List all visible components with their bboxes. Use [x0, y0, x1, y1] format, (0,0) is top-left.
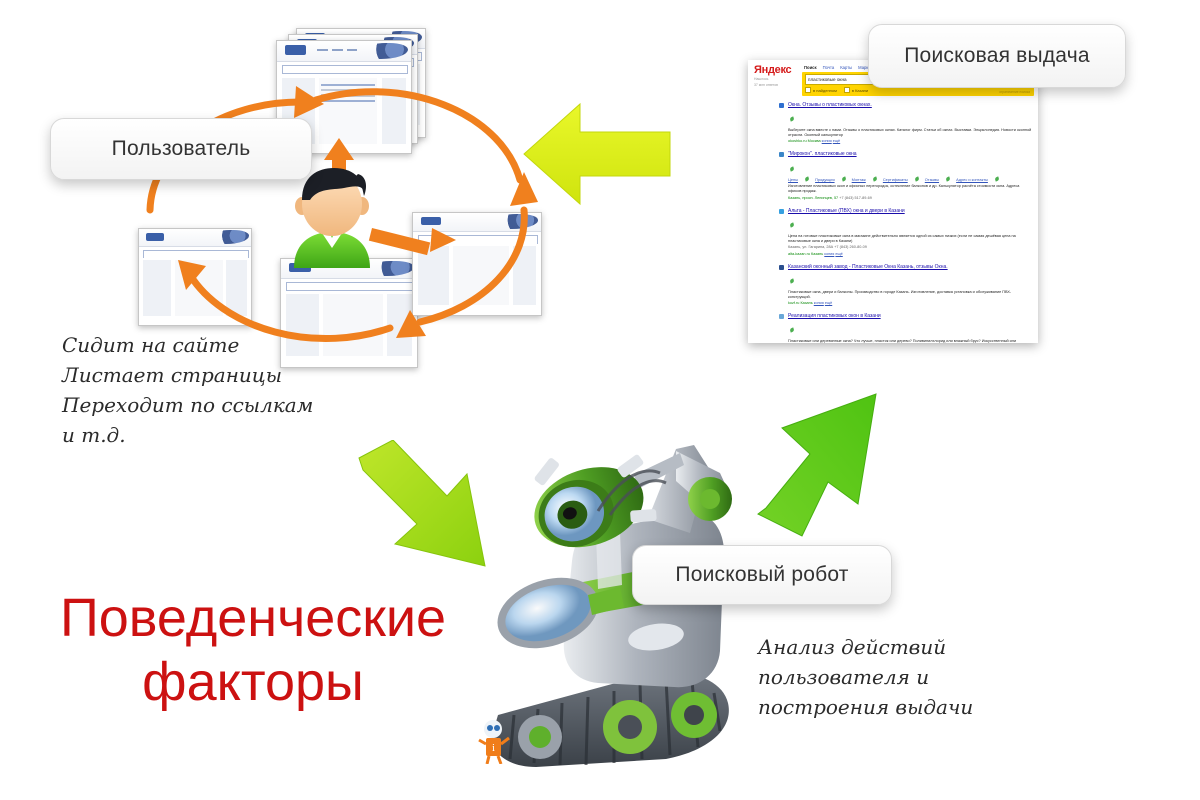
result-copy-link[interactable]: копия — [822, 139, 832, 143]
result-title[interactable]: Окна. Отзывы о пластиковых окнах. — [788, 102, 1032, 108]
checkbox-v-kazani[interactable]: в Казани — [844, 87, 868, 93]
page-title: Поведенческие факторы — [28, 586, 478, 714]
robot-behaviour-note: Анализ действий пользователя и построени… — [758, 632, 973, 722]
site-aside — [387, 294, 411, 356]
result-meta: Казань, просп. Ленинцев, 57 +7 (843) 517… — [788, 196, 1032, 201]
sublink[interactable]: Цены — [788, 177, 798, 182]
result-url[interactable]: okoshko.ru — [788, 139, 807, 143]
site-aside — [382, 78, 406, 144]
site-search-field — [282, 65, 407, 75]
result-copy-link[interactable]: копия — [814, 301, 824, 305]
site-body — [413, 244, 541, 315]
site-nav — [317, 49, 328, 51]
leaf-icon — [789, 278, 794, 283]
result-meta: kozf.ru Казань копия ещё — [788, 301, 1032, 306]
checkbox-icon[interactable] — [844, 87, 850, 93]
result-snippet: Выберите окна вместе с нами. Отзывы о пл… — [788, 128, 1032, 138]
sublink[interactable]: Сертификаты — [883, 177, 908, 182]
result-url[interactable]: kozf.ru — [788, 301, 799, 305]
result-more-link[interactable]: ещё — [833, 139, 840, 143]
serp-found-count: 37 млн ответов — [754, 83, 802, 88]
search-result-item[interactable]: Альта - Пластиковые (ПВХ) окна и двери в… — [788, 208, 1032, 257]
site-nav — [347, 49, 358, 51]
tab-poisk[interactable]: Поиск — [804, 65, 817, 70]
result-address: Казань, просп. Ленинцев, 57 — [788, 196, 838, 200]
favicon-icon — [779, 152, 784, 157]
mascot-icon: i — [478, 718, 512, 764]
callout-serp-label: Поисковая выдача — [904, 44, 1089, 68]
site-aside — [226, 260, 246, 315]
user-behaviour-note: Сидит на сайте Листает страницы Переходи… — [62, 330, 313, 450]
result-city: Казань — [811, 252, 823, 256]
yandex-serp-window[interactable]: Яндекс Нашлось 37 млн ответов Поиск Почт… — [748, 60, 1038, 343]
arrow-serp-to-user — [518, 98, 674, 210]
svg-text:i: i — [492, 742, 495, 754]
leaf-icon — [872, 177, 877, 182]
search-result-item[interactable]: Реализация пластиковых окон в Казани Пла… — [788, 313, 1032, 343]
result-address: Казань, ул. Гагарина, 28А — [788, 245, 833, 249]
result-snippet: Пластиковые или деревянные окна? Что луч… — [788, 339, 1032, 343]
leaf-icon — [789, 166, 794, 171]
tab-karty[interactable]: Карты — [840, 65, 852, 70]
infographic-canvas: i Яндекс Нашло — [0, 0, 1200, 800]
search-result-item[interactable]: Окна. Отзывы о пластиковых окнах. Выбери… — [788, 102, 1032, 144]
site-text-lines — [321, 84, 375, 105]
robot-treads — [492, 672, 729, 767]
search-result-item[interactable]: Казанский оконный завод - Пластиковые Ок… — [788, 264, 1032, 306]
callout-search-results[interactable]: Поисковая выдача — [868, 24, 1126, 88]
result-phone: +7 (843) 517-89-69 — [839, 196, 872, 200]
site-nav — [332, 49, 343, 51]
arrow-robot-to-serp — [752, 386, 884, 541]
result-title[interactable]: Реализация пластиковых окон в Казани — [788, 313, 1032, 319]
result-snippet: Пластиковые окна, двери и балконы. Произ… — [788, 290, 1032, 300]
site-logo — [146, 233, 164, 241]
site-swoosh-graphic — [363, 43, 409, 59]
site-header-bar — [139, 229, 251, 247]
leaf-icon — [789, 117, 794, 122]
result-title[interactable]: Альта - Пластиковые (ПВХ) окна и двери в… — [788, 208, 1032, 214]
site-sidebar — [143, 260, 171, 315]
site-header-bar — [277, 41, 411, 62]
leaf-icon — [994, 177, 999, 182]
callout-user-label: Пользователь — [112, 137, 251, 161]
sublink[interactable]: Продукция — [815, 177, 834, 182]
site-swoosh-graphic — [211, 230, 249, 244]
serp-results-list: Окна. Отзывы о пластиковых окнах. Выбери… — [748, 96, 1038, 343]
leaf-icon — [804, 177, 809, 182]
sublink[interactable]: Адрес и контакты — [956, 177, 988, 182]
yandex-logo[interactable]: Яндекс — [754, 64, 802, 76]
leaf-icon — [841, 177, 846, 182]
site-logo — [421, 217, 441, 225]
callout-search-robot[interactable]: Поисковый робот — [632, 545, 892, 605]
search-result-item[interactable]: "Мирокон". пластиковые окна Цены Продукц… — [788, 151, 1032, 200]
result-city: Москва — [808, 139, 821, 143]
serp-ad-note: ограничение поиска — [999, 90, 1030, 94]
site-content — [175, 260, 223, 315]
serp-logo-block: Яндекс Нашлось 37 млн ответов — [752, 64, 802, 96]
result-phone: +7 (843) 260-80-09 — [834, 245, 867, 249]
favicon-icon — [779, 209, 784, 214]
callout-robot-label: Поисковый робот — [675, 563, 848, 587]
result-city: Казань — [800, 301, 812, 305]
sublink[interactable]: Монтаж — [852, 177, 866, 182]
site-thumb-left — [138, 228, 252, 326]
checkbox-icon[interactable] — [805, 87, 811, 93]
result-title[interactable]: "Мирокон". пластиковые окна — [788, 151, 1032, 157]
site-body — [139, 258, 251, 325]
result-meta: alta-kazan.ru Казань копия ещё — [788, 252, 1032, 257]
result-more-link[interactable]: ещё — [825, 301, 832, 305]
result-snippet: Изготовление пластиковых окон и офисных … — [788, 184, 1032, 194]
checkbox-label: в найденном — [813, 88, 837, 93]
result-copy-link[interactable]: копия — [824, 252, 834, 256]
tab-pochta[interactable]: Почта — [823, 65, 835, 70]
result-more-link[interactable]: ещё — [835, 252, 842, 256]
result-url[interactable]: alta-kazan.ru — [788, 252, 810, 256]
site-swoosh-graphic — [495, 214, 539, 229]
site-aside — [513, 246, 536, 305]
site-thumb-right — [412, 212, 542, 316]
site-content — [453, 246, 509, 305]
leaf-icon — [945, 177, 950, 182]
favicon-icon — [779, 103, 784, 108]
site-content — [323, 294, 383, 356]
result-snippet: Цена на готовые пластиковые окна в магаз… — [788, 234, 1032, 244]
site-sidebar — [418, 246, 449, 305]
result-sublinks: Цены Продукция Монтаж Сертификаты Отзывы… — [788, 177, 1032, 182]
site-search-field — [286, 282, 413, 292]
checkbox-label: в Казани — [852, 88, 868, 93]
site-logo — [285, 45, 306, 54]
result-meta: okoshko.ru Москва копия ещё — [788, 139, 1032, 144]
leaf-icon — [789, 223, 794, 228]
sublink[interactable]: Отзывы — [925, 177, 939, 182]
leaf-icon — [789, 328, 794, 333]
result-address-line: Казань, ул. Гагарина, 28А +7 (843) 260-8… — [788, 245, 1032, 250]
leaf-icon — [914, 177, 919, 182]
user-shirt — [294, 232, 370, 268]
favicon-icon — [779, 265, 784, 270]
favicon-icon — [779, 314, 784, 319]
serp-found-label: Нашлось — [754, 77, 802, 82]
site-header-bar — [413, 213, 541, 232]
checkbox-v-naydennom[interactable]: в найденном — [805, 87, 837, 93]
arrow-user-to-robot — [355, 440, 515, 570]
result-title[interactable]: Казанский оконный завод - Пластиковые Ок… — [788, 264, 1032, 270]
callout-user[interactable]: Пользователь — [50, 118, 312, 180]
